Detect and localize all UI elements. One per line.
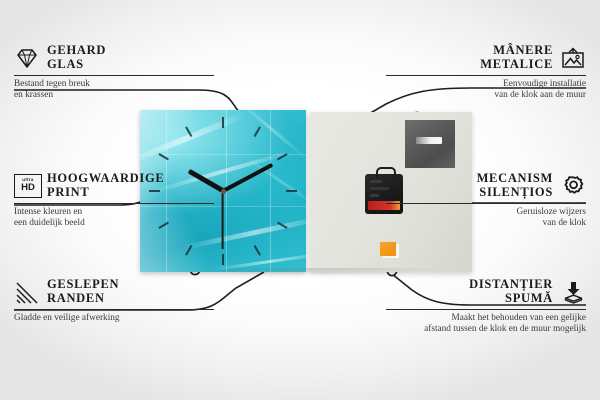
feature-hoogwaardige-print: ultra HD HOOGWAARDIGEPRINT Intense kleur… xyxy=(14,172,214,230)
feature-subtitle: Geruisloze wijzersvan de klok xyxy=(386,207,586,230)
feature-title: GEHARDGLAS xyxy=(47,44,106,71)
feature-mecanism-silentios: MECANISMSILENȚIOS Geruisloze wijzersvan … xyxy=(386,172,586,230)
mechanism-detail xyxy=(370,180,382,183)
feature-title: HOOGWAARDIGEPRINT xyxy=(47,172,164,199)
infographic-canvas: GEHARDGLAS Bestand tegen breuken krassen… xyxy=(0,0,600,400)
mechanism-detail xyxy=(370,194,379,197)
feature-subtitle: Intense kleuren eneen duidelijk beeld xyxy=(14,207,214,230)
clock-second-hand xyxy=(222,191,224,249)
title-underline xyxy=(14,309,214,310)
ultra-hd-icon: ultra HD xyxy=(14,174,40,198)
feature-title: DISTANȚIERSPUMĂ xyxy=(469,278,553,305)
bevelled-edge-icon xyxy=(14,280,40,304)
feature-title: MÂNEREMETALICE xyxy=(480,44,553,71)
clock-center-pin xyxy=(221,189,226,194)
feature-manere-metalice: MÂNEREMETALICE Eenvoudige installatievan… xyxy=(386,44,586,102)
metal-hanger-plate xyxy=(405,120,455,168)
feature-subtitle: Gladde en veilige afwerking xyxy=(14,313,214,324)
clock-tick xyxy=(222,117,224,191)
diamond-icon xyxy=(14,46,40,70)
wall-hanging-icon xyxy=(560,46,586,70)
feature-gehard-glas: GEHARDGLAS Bestand tegen breuken krassen xyxy=(14,44,214,102)
spacer-arrow-icon xyxy=(560,280,586,304)
title-underline xyxy=(14,203,214,204)
hanger-slot xyxy=(416,137,442,144)
feature-distantier-spuma: DISTANȚIERSPUMĂ Maakt het behouden van e… xyxy=(386,278,586,336)
ultra-hd-icon-label-main: HD xyxy=(21,183,35,193)
foam-spacer xyxy=(380,242,396,256)
feature-subtitle: Eenvoudige installatievan de klok aan de… xyxy=(386,79,586,102)
gear-icon xyxy=(560,174,586,198)
feature-title: GESLEPENRANDEN xyxy=(47,278,119,305)
title-underline xyxy=(14,75,214,76)
feature-title: MECANISMSILENȚIOS xyxy=(477,172,553,199)
feature-subtitle: Bestand tegen breuken krassen xyxy=(14,79,214,102)
title-underline xyxy=(386,203,586,204)
feature-geslepen-randen: GESLEPENRANDEN Gladde en veilige afwerki… xyxy=(14,278,214,324)
clock-tick xyxy=(223,190,297,192)
title-underline xyxy=(386,309,586,310)
title-underline xyxy=(386,75,586,76)
feature-subtitle: Maakt het behouden van een gelijkeafstan… xyxy=(364,313,586,336)
